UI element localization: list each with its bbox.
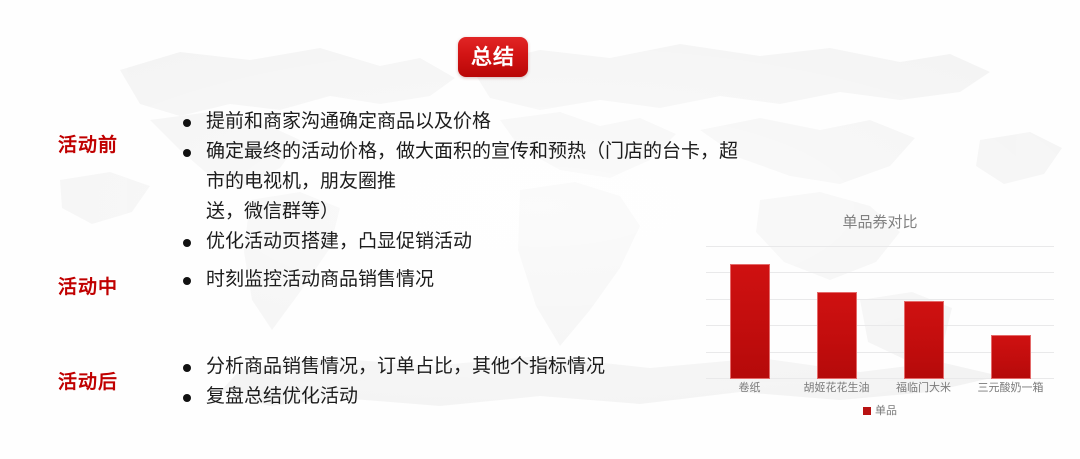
list-item: 时刻监控活动商品销售情况 <box>178 265 698 295</box>
list-item: 复盘总结优化活动 <box>178 382 718 412</box>
chart-plot-area <box>706 247 1054 379</box>
slide-canvas: 总结 活动前 提前和商家沟通确定商品以及价格 确定最终的活动价格，做大面积的宣传… <box>0 0 1080 459</box>
list-item: 优化活动页搭建，凸显促销活动 <box>178 227 738 257</box>
list-item: 分析商品销售情况，订单占比，其他个指标情况 <box>178 352 718 382</box>
chart-x-label: 福临门大米 <box>896 380 951 396</box>
chart-title: 单品券对比 <box>700 212 1060 234</box>
bullet-list-during: 时刻监控活动商品销售情况 <box>178 265 698 295</box>
chart-bar <box>904 301 944 379</box>
chart-bar <box>730 264 770 379</box>
bullet-list-after: 分析商品销售情况，订单占比，其他个指标情况 复盘总结优化活动 <box>178 352 718 412</box>
chart-bar <box>991 335 1031 379</box>
slide-title-badge: 总结 <box>458 37 528 77</box>
section-label-before: 活动前 <box>58 130 118 157</box>
legend-label: 单品 <box>875 404 897 418</box>
bar-chart: 单品券对比 卷纸胡姬花花生油福临门大米三元酸奶一箱 单品 <box>700 212 1060 444</box>
chart-x-axis-labels: 卷纸胡姬花花生油福临门大米三元酸奶一箱 <box>706 380 1054 400</box>
chart-x-label: 胡姬花花生油 <box>804 380 870 396</box>
section-label-after: 活动后 <box>58 367 118 394</box>
section-label-during: 活动中 <box>58 272 118 299</box>
chart-x-label: 三元酸奶一箱 <box>978 380 1044 396</box>
chart-bar <box>817 292 857 379</box>
slide-title-text: 总结 <box>471 47 515 68</box>
chart-gridline <box>706 246 1054 247</box>
chart-legend: 单品 <box>700 404 1060 418</box>
list-item: 提前和商家沟通确定商品以及价格 <box>178 107 738 137</box>
chart-x-label: 卷纸 <box>739 380 761 396</box>
list-item: 确定最终的活动价格，做大面积的宣传和预热（门店的台卡，超市的电视机，朋友圈推 送… <box>178 137 738 227</box>
bullet-list-before: 提前和商家沟通确定商品以及价格 确定最终的活动价格，做大面积的宣传和预热（门店的… <box>178 107 738 257</box>
legend-swatch-icon <box>863 407 871 415</box>
